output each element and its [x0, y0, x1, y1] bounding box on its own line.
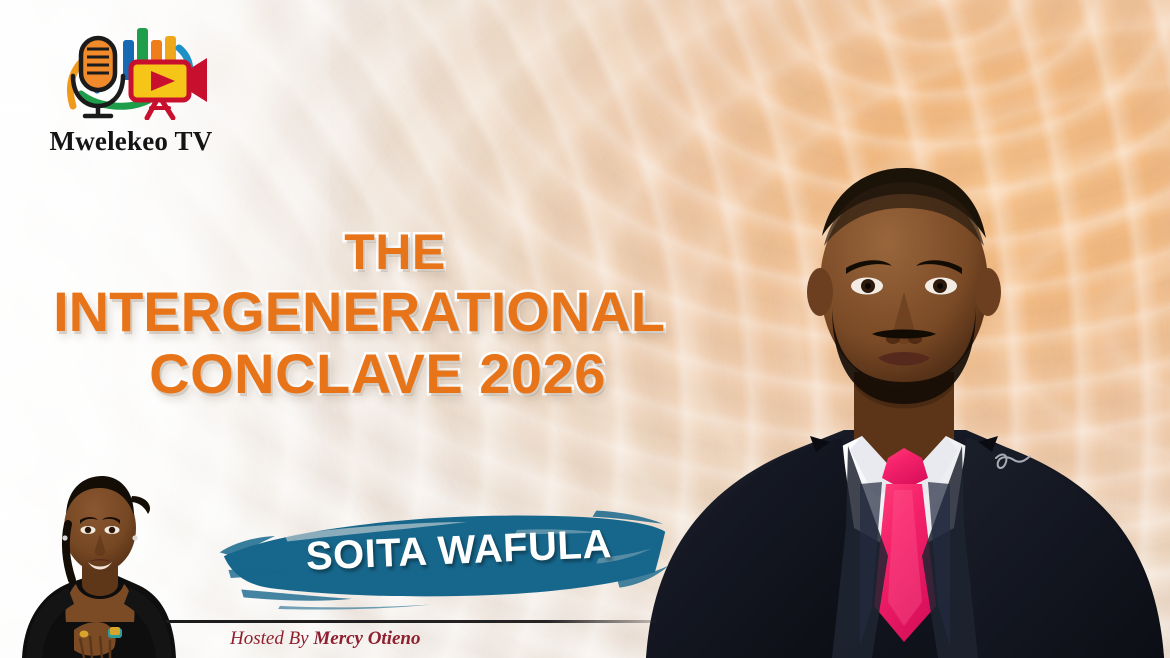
- event-title: THE INTERGENERATIONAL CONCLAVE 2026: [0, 228, 700, 401]
- ring-icon: [80, 631, 89, 638]
- host-prefix: Hosted By: [230, 628, 309, 649]
- video-thumbnail-poster: Mwelekeo TV THE INTERGENERATIONAL CONCLA…: [0, 0, 1170, 658]
- video-camera-icon: [131, 58, 207, 102]
- brand-logo: Mwelekeo TV: [36, 18, 226, 157]
- speaker-name-banner: SOITA WAFULA: [216, 494, 672, 617]
- brand-name: Mwelekeo TV: [36, 126, 226, 157]
- title-line-2: INTERGENERATIONAL: [0, 285, 700, 339]
- host-credit: Hosted By Mercy Otieno: [230, 628, 421, 650]
- title-line-3: CONCLAVE 2026: [0, 347, 700, 401]
- speaker-photo: [636, 86, 1170, 658]
- microphone-camera-logo-icon: [55, 18, 207, 120]
- host-name: Mercy Otieno: [313, 628, 420, 649]
- host-photo: [14, 462, 180, 658]
- title-line-1: THE: [0, 228, 700, 277]
- host-divider-rule: [166, 620, 656, 623]
